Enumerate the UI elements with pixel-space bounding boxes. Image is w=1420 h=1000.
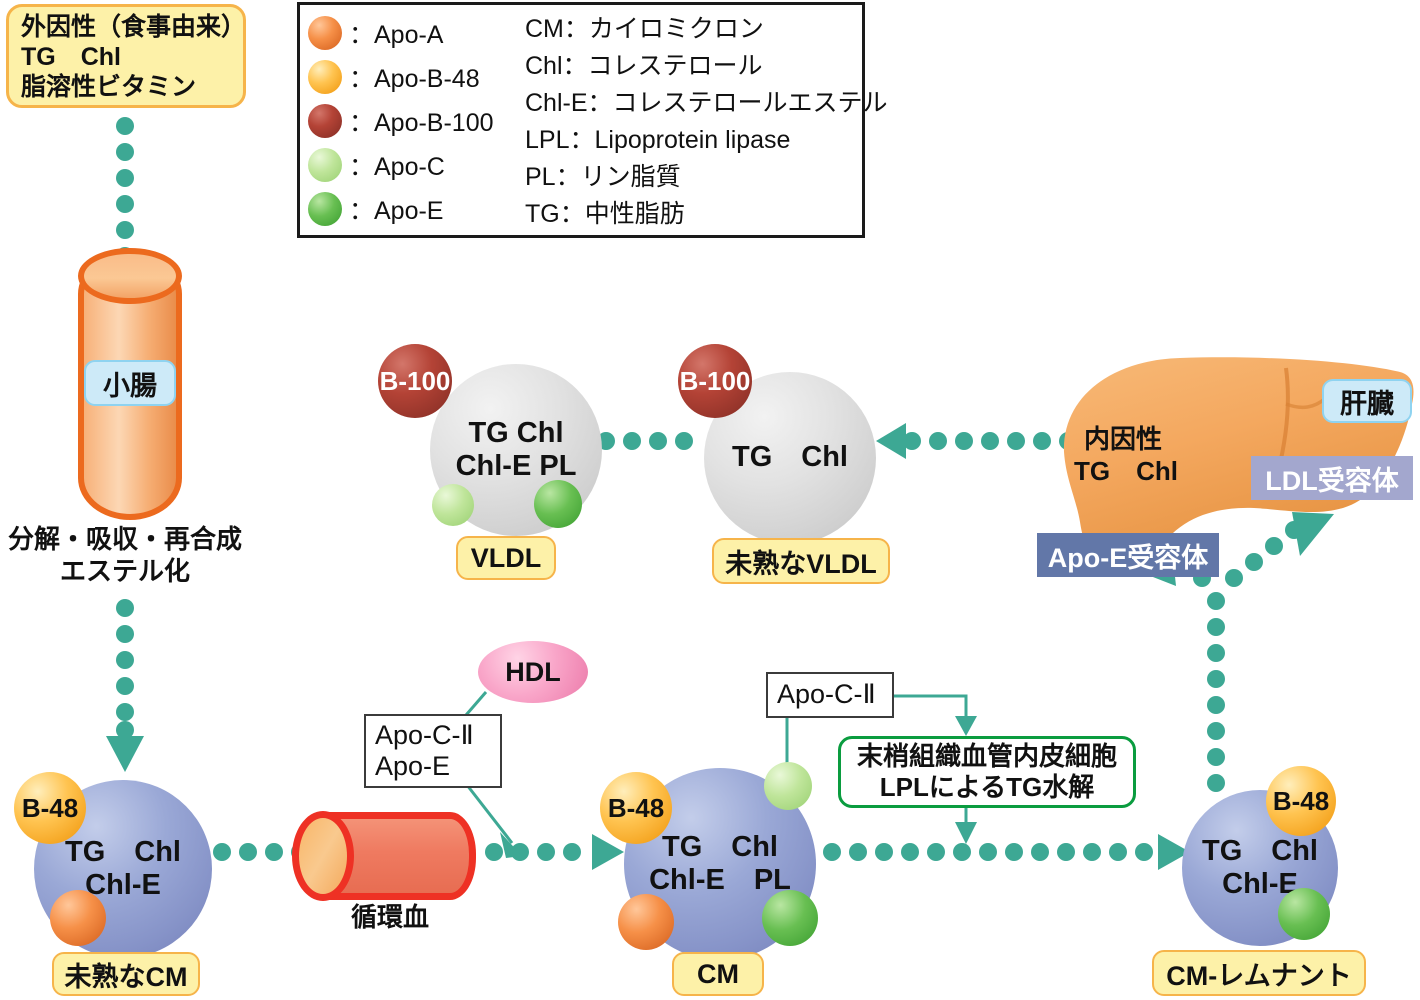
vldl-apo-e-bubble <box>534 480 582 528</box>
liver-tag: 肝臓 <box>1322 379 1412 423</box>
apo-transfer-line-1: Apo-C-Ⅱ <box>375 720 474 751</box>
circulating-blood-label: 循環血 <box>300 902 480 934</box>
small-intestine-opening <box>78 248 182 304</box>
apo-e-receptor-tag: Apo-E受容体 <box>1037 533 1219 577</box>
cm-remnant-caption: CM-レムナント <box>1152 950 1366 996</box>
vldl-caption: VLDL <box>456 536 556 580</box>
legend-item-apo-c: ：Apo-C <box>308 143 494 187</box>
legend-item-apo-e: ：Apo-E <box>308 187 494 231</box>
ldl-receptor-tag: LDL受容体 <box>1251 456 1413 500</box>
arrow-lpl-to-pathway <box>955 806 977 844</box>
legend-label-apo-a: ：Apo-A <box>349 15 443 51</box>
apo-c2-box: Apo-C-Ⅱ <box>766 672 894 718</box>
vldl-apo-c-bubble <box>432 484 474 526</box>
legend-label-apo-b100: ：Apo-B-100 <box>349 103 494 139</box>
apo-c-marker-icon <box>308 148 342 182</box>
endogenous-line-2: TG Chl <box>1074 456 1178 488</box>
cm-content-line-2: Chl-E PL <box>649 864 791 897</box>
cm-apo-b48-bubble: B-48 <box>600 772 672 844</box>
intestine-process-line-1: 分解・吸収・再合成 <box>0 524 250 556</box>
legend-label-apo-e: ：Apo-E <box>349 191 443 227</box>
vldl-apo-b100-bubble: B-100 <box>378 344 452 418</box>
abbrev-chl-e: Chl-E：コレステロールエステル <box>525 85 888 122</box>
immature-vldl-caption: 未熟なVLDL <box>712 538 890 584</box>
cm-apo-c-bubble <box>764 762 812 810</box>
legend-item-apo-a: ：Apo-A <box>308 11 494 55</box>
apo-transfer-line-2: Apo-E <box>375 751 450 782</box>
legend-box: ：Apo-A ：Apo-B-48 ：Apo-B-100 ：Apo-C ：Apo-… <box>297 2 865 238</box>
cm-apo-e-bubble <box>762 890 818 946</box>
lpl-box-line-1: 末梢組織血管内皮細胞 <box>857 741 1117 772</box>
abbrev-pl: PL：リン脂質 <box>525 159 888 196</box>
immature-cm-apo-a-bubble <box>50 890 106 946</box>
hdl-particle: HDL <box>478 641 588 703</box>
cm-remnant-content-line-1: TG Chl <box>1202 835 1318 868</box>
vldl-content-line-1: TG Chl <box>456 417 577 450</box>
immature-cm-caption: 未熟なCM <box>52 952 200 996</box>
apo-e-marker-icon <box>308 192 342 226</box>
immature-vldl-apo-b100-bubble: B-100 <box>678 344 752 418</box>
cm-caption: CM <box>672 952 764 996</box>
apo-a-marker-icon <box>308 16 342 50</box>
abbrev-lpl: LPL：Lipoprotein lipase <box>525 122 888 159</box>
cm-remnant-apo-b48-bubble: B-48 <box>1266 766 1336 836</box>
abbrev-tg: TG：中性脂肪 <box>525 196 888 233</box>
cm-apo-a-bubble <box>618 894 674 950</box>
immature-vldl-content: TG Chl <box>732 441 848 474</box>
cm-remnant-apo-e-bubble <box>1278 888 1330 940</box>
legend-marker-list: ：Apo-A ：Apo-B-48 ：Apo-B-100 ：Apo-C ：Apo-… <box>308 11 494 231</box>
legend-item-apo-b100: ：Apo-B-100 <box>308 99 494 143</box>
endogenous-label: 内因性 TG Chl <box>1084 424 1178 487</box>
apo-b48-marker-icon <box>308 60 342 94</box>
vldl-content-line-2: Chl-E PL <box>456 450 577 483</box>
exogenous-source-box: 外因性（食事由来） TG Chl 脂溶性ビタミン <box>6 4 246 108</box>
legend-label-apo-c: ：Apo-C <box>349 147 445 183</box>
lpl-box-line-2: LPLによるTG水解 <box>880 772 1094 803</box>
small-intestine-tag: 小腸 <box>84 360 176 406</box>
legend-label-apo-b48: ：Apo-B-48 <box>349 59 480 95</box>
lipoprotein-metabolism-diagram: .dot{fill:#3da894;} .tri{fill:#3da894;} … <box>0 0 1420 1000</box>
immature-cm-content-line-1: TG Chl <box>65 836 181 869</box>
immature-cm-apo-b48-bubble: B-48 <box>14 772 86 844</box>
arrow-cm-to-cm-remnant <box>823 834 1190 870</box>
arrow-vessel-to-cm <box>485 834 624 870</box>
abbrev-cm: CM：カイロミクロン <box>525 11 888 48</box>
apo-b100-marker-icon <box>308 104 342 138</box>
abbrev-chl: Chl：コレステロール <box>525 48 888 85</box>
exogenous-line-1: 外因性（食事由来） <box>21 12 243 42</box>
legend-item-apo-b48: ：Apo-B-48 <box>308 55 494 99</box>
intestine-process-text: 分解・吸収・再合成 エステル化 <box>0 524 250 587</box>
exogenous-line-3: 脂溶性ビタミン <box>21 72 243 102</box>
legend-abbreviation-list: CM：カイロミクロン Chl：コレステロール Chl-E：コレステロールエステル… <box>525 11 888 233</box>
endogenous-line-1: 内因性 <box>1084 424 1178 456</box>
intestine-process-line-2: エステル化 <box>0 556 250 588</box>
apo-transfer-box: Apo-C-Ⅱ Apo-E <box>364 714 502 788</box>
lpl-hydrolysis-box: 末梢組織血管内皮細胞 LPLによるTG水解 <box>838 736 1136 808</box>
arrow-intestine-to-immature-cm <box>106 599 144 772</box>
circulating-blood-vessel-opening <box>292 811 354 901</box>
cm-content-line-1: TG Chl <box>649 831 791 864</box>
exogenous-line-2: TG Chl <box>21 42 243 72</box>
